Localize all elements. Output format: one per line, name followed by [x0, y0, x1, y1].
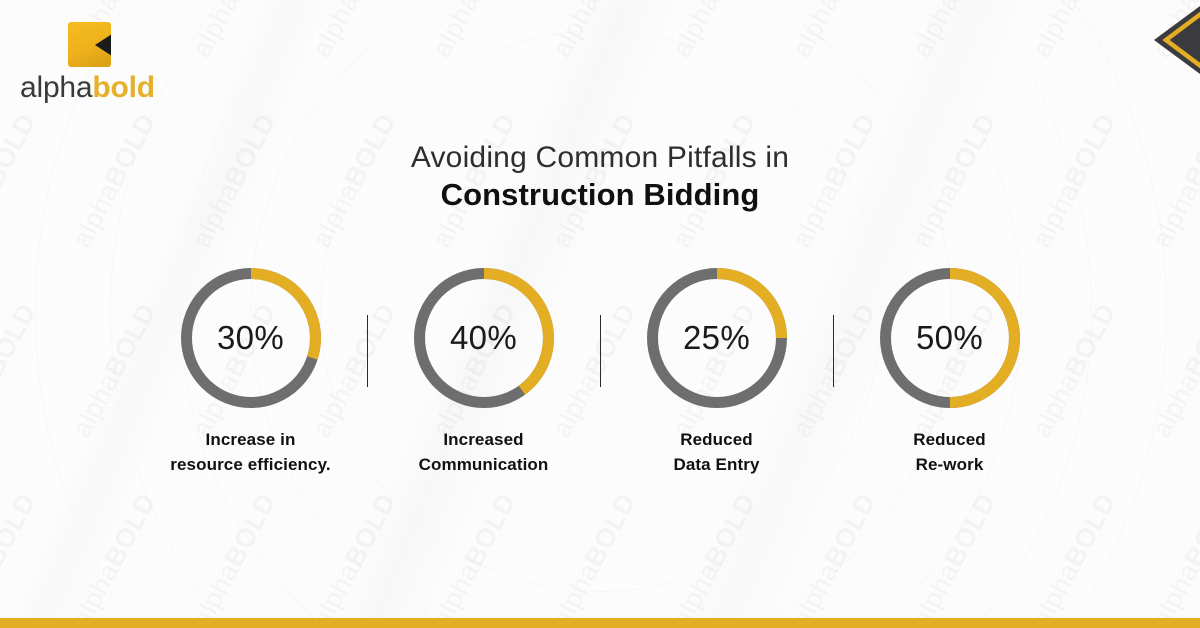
- donut-chart: 25%: [647, 268, 787, 408]
- brand-logo: alphabold: [20, 22, 190, 103]
- brand-wordmark: alphabold: [20, 73, 190, 103]
- stat-item: 40%Increased Communication: [368, 268, 600, 477]
- title-line-1: Avoiding Common Pitfalls in: [0, 140, 1200, 175]
- title-line-2: Construction Bidding: [0, 177, 1200, 214]
- watermark-text: alphaBOLD: [906, 0, 1002, 63]
- stat-label: Increased Communication: [419, 428, 549, 477]
- watermark-text: alphaBOLD: [1026, 488, 1122, 628]
- logo-notch-triangle-icon: [95, 34, 111, 56]
- watermark-text: alphaBOLD: [786, 0, 882, 63]
- donut-chart: 40%: [414, 268, 554, 408]
- watermark-text: alphaBOLD: [666, 0, 762, 63]
- stat-item: 50%Reduced Re-work: [834, 268, 1066, 477]
- watermark-text: alphaBOLD: [0, 488, 43, 628]
- watermark-text: alphaBOLD: [666, 488, 762, 628]
- stats-row: 30%Increase in resource efficiency.40%In…: [0, 268, 1200, 477]
- watermark-text: alphaBOLD: [66, 488, 162, 628]
- watermark-text: alphaBOLD: [546, 488, 642, 628]
- donut-value-label: 30%: [181, 268, 321, 408]
- watermark-text: alphaBOLD: [306, 0, 402, 63]
- stat-item: 30%Increase in resource efficiency.: [135, 268, 367, 477]
- watermark-text: alphaBOLD: [186, 488, 282, 628]
- donut-value-label: 40%: [414, 268, 554, 408]
- stat-label: Reduced Data Entry: [673, 428, 759, 477]
- stat-label: Increase in resource efficiency.: [170, 428, 330, 477]
- stat-item: 25%Reduced Data Entry: [601, 268, 833, 477]
- watermark-text: alphaBOLD: [1146, 0, 1200, 63]
- brand-word-bold: bold: [92, 71, 155, 104]
- bottom-accent-bar: [0, 618, 1200, 628]
- watermark-text: alphaBOLD: [786, 488, 882, 628]
- brand-word-alpha: alpha: [20, 71, 92, 104]
- watermark-text: alphaBOLD: [906, 488, 1002, 628]
- watermark-text: alphaBOLD: [186, 0, 282, 63]
- donut-chart: 30%: [181, 268, 321, 408]
- watermark-text: alphaBOLD: [426, 0, 522, 63]
- watermark-text: alphaBOLD: [306, 488, 402, 628]
- watermark-text: alphaBOLD: [1026, 0, 1122, 63]
- alphabold-logo-mark-icon: [68, 22, 111, 67]
- watermark-text: alphaBOLD: [546, 0, 642, 63]
- left-chevron-arrow-icon: [1114, 0, 1200, 84]
- donut-chart: 50%: [880, 268, 1020, 408]
- donut-value-label: 50%: [880, 268, 1020, 408]
- page-title: Avoiding Common Pitfalls in Construction…: [0, 140, 1200, 214]
- watermark-text: alphaBOLD: [426, 488, 522, 628]
- watermark-text: alphaBOLD: [1146, 488, 1200, 628]
- infographic-canvas: alphaBOLDalphaBOLDalphaBOLDalphaBOLDalph…: [0, 0, 1200, 628]
- donut-value-label: 25%: [647, 268, 787, 408]
- stat-label: Reduced Re-work: [913, 428, 986, 477]
